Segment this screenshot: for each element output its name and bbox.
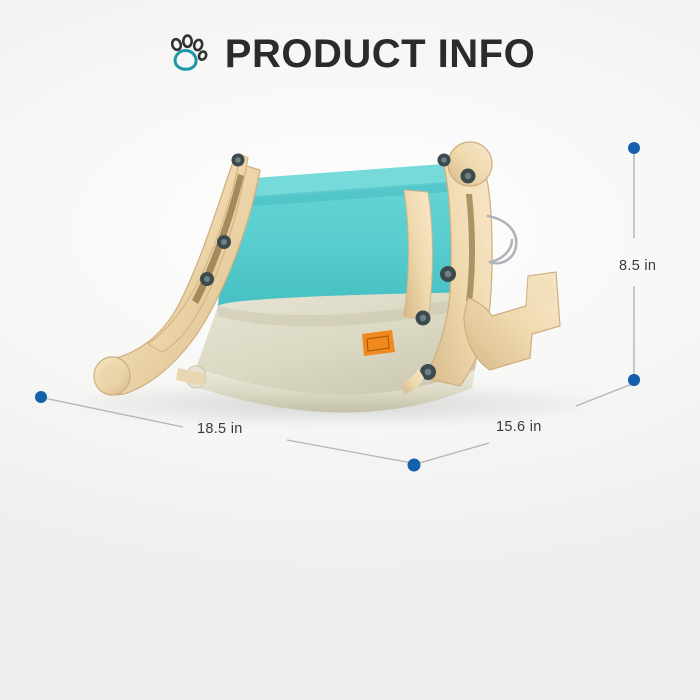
dim-marker-corner-front (408, 459, 421, 472)
capacity-callout-section: Hold up to 40Lbs 20 KG (0, 480, 700, 700)
brand-tag (362, 330, 395, 356)
product-illustration (20, 120, 640, 450)
product-info-infographic: PRODUCT INFO (0, 0, 700, 700)
paw-print-icon (165, 33, 209, 77)
product-image (20, 120, 640, 450)
page-header: PRODUCT INFO (0, 32, 700, 77)
page-title: PRODUCT INFO (225, 32, 535, 77)
depth-dimension-label: 15.6 in (496, 419, 542, 435)
width-dimension-label: 18.5 in (197, 421, 243, 437)
height-dimension-label: 8.5 in (619, 258, 656, 274)
